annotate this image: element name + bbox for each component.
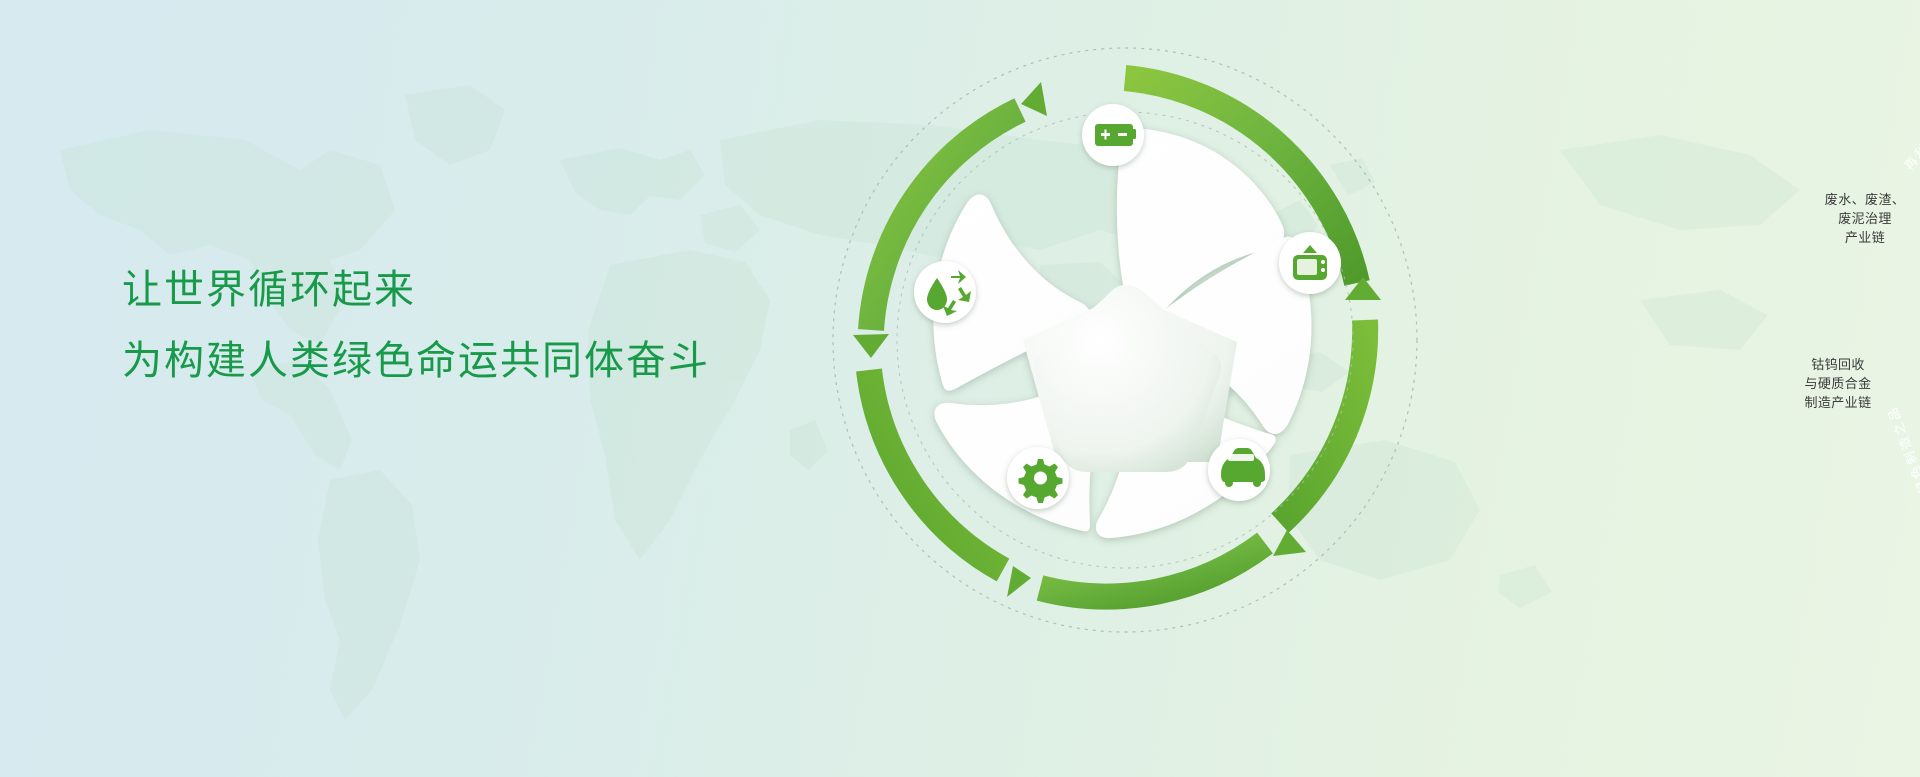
headline-line-1: 让世界循环起来: [122, 262, 882, 319]
diagram-svg: [825, 0, 1425, 777]
headline: 让世界循环起来 为构建人类绿色命运共同体奋斗: [122, 262, 882, 390]
chain-label-cobalt: 钴钨回收 与硬质合金 制造产业链: [1783, 355, 1893, 413]
chain-label-waste: 废水、废渣、 废泥治理 产业链: [1813, 190, 1917, 248]
gear-icon: [1019, 459, 1063, 503]
headline-line-2: 为构建人类绿色命运共同体奋斗: [122, 333, 882, 390]
battery-icon: [1095, 124, 1136, 146]
five-industry-chain-diagram: GEM 格林美 资源有限 循环无限 Recycling for future !…: [825, 0, 1425, 777]
